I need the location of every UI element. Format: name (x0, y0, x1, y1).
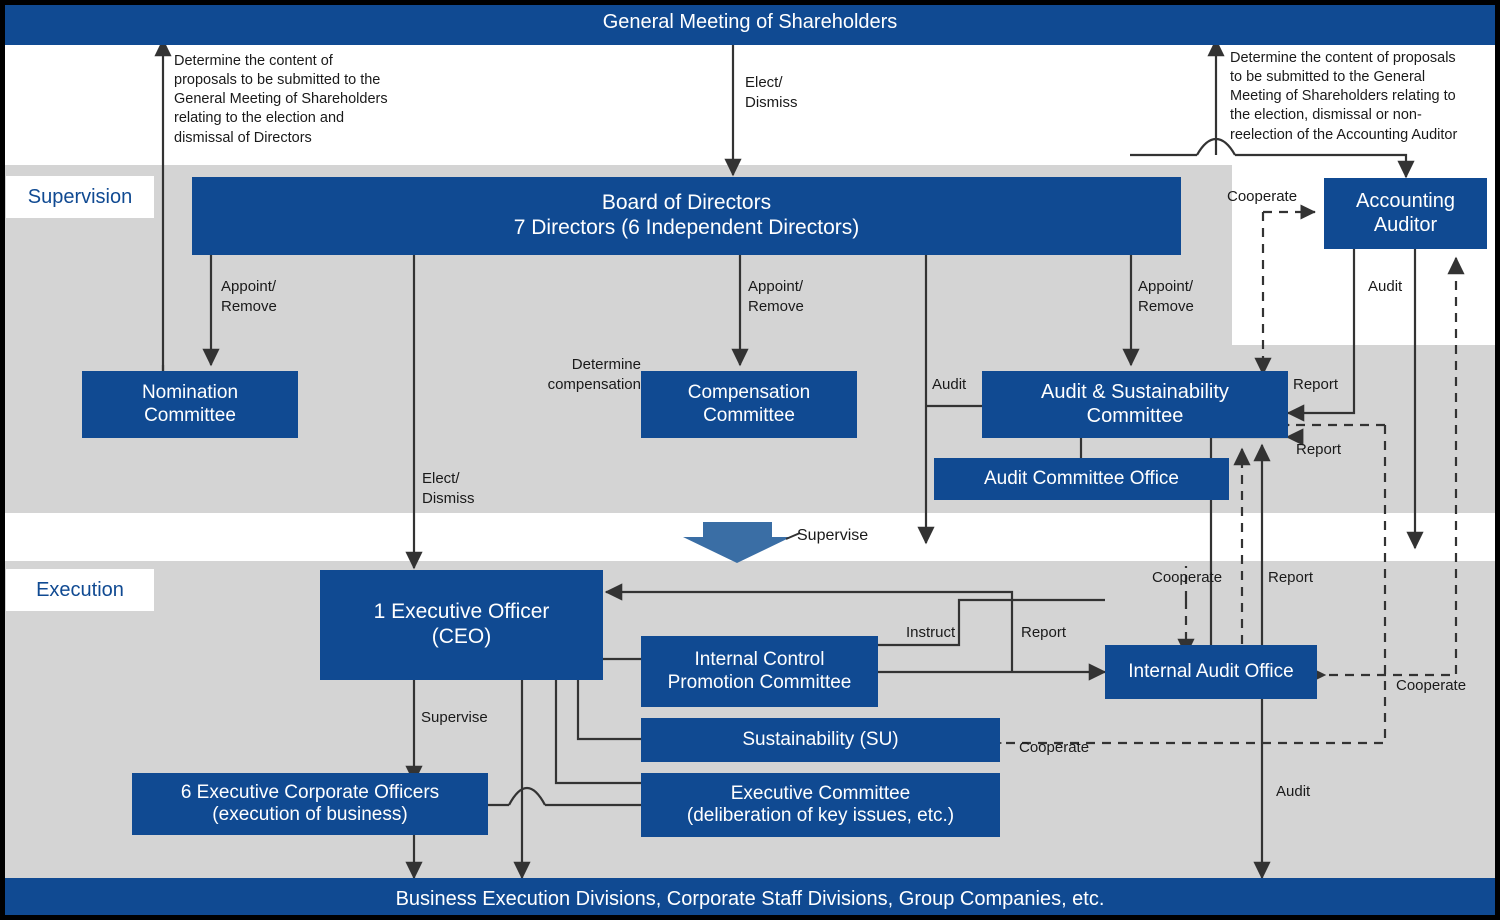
banner-general-meeting-label: General Meeting of Shareholders (603, 11, 898, 34)
box-ceo-label: 1 Executive Officer (CEO) (374, 600, 550, 650)
box-audit-sustainability-committee-label: Audit & Sustainability Committee (1041, 381, 1229, 428)
box-audit-sustainability-committee: Audit & Sustainability Committee (982, 371, 1288, 438)
box-sustainability-su: Sustainability (SU) (641, 718, 1000, 762)
box-audit-committee-office: Audit Committee Office (934, 458, 1229, 500)
box-executive-corporate-officers-label: 6 Executive Corporate Officers (executio… (181, 782, 439, 827)
box-internal-control-promotion-committee-label: Internal Control Promotion Committee (668, 649, 852, 694)
label-appoint-remove-audit: Appoint/ Remove (1138, 277, 1194, 317)
tag-supervision-label: Supervision (28, 186, 133, 209)
label-supervise-band: Supervise (797, 525, 868, 546)
label-audit-board: Audit (932, 375, 966, 395)
governance-diagram: General Meeting of Shareholders Business… (0, 0, 1500, 920)
label-appoint-remove-compensation: Appoint/ Remove (748, 277, 804, 317)
box-accounting-auditor-label: Accounting Auditor (1356, 190, 1455, 237)
box-internal-audit-office-label: Internal Audit Office (1128, 661, 1293, 683)
box-nomination-committee-label: Nomination Committee (142, 382, 238, 427)
box-compensation-committee-label: Compensation Committee (688, 382, 811, 427)
tag-supervision: Supervision (6, 176, 154, 218)
label-determine-proposals-auditor: Determine the content of proposals to be… (1230, 49, 1492, 145)
label-appoint-remove-nomination: Appoint/ Remove (221, 277, 277, 317)
label-elect-dismiss-top: Elect/ Dismiss (745, 73, 798, 113)
label-report-asc-bottom: Report (1296, 440, 1341, 460)
banner-business-execution: Business Execution Divisions, Corporate … (0, 878, 1500, 920)
label-elect-dismiss-ceo: Elect/ Dismiss (422, 469, 475, 509)
label-determine-proposals-directors: Determine the content of proposals to be… (174, 52, 444, 148)
banner-general-meeting: General Meeting of Shareholders (0, 0, 1500, 45)
label-cooperate-internal-audit-top: Cooperate (1152, 568, 1222, 588)
label-audit-bottom: Audit (1276, 782, 1310, 802)
label-instruct: Instruct (906, 623, 955, 643)
box-internal-control-promotion-committee: Internal Control Promotion Committee (641, 636, 878, 707)
tag-execution: Execution (6, 569, 154, 611)
banner-business-execution-label: Business Execution Divisions, Corporate … (396, 888, 1105, 911)
label-supervise-ceo: Supervise (421, 708, 488, 728)
box-executive-committee-label: Executive Committee (deliberation of key… (687, 783, 954, 828)
label-cooperate-accounting: Cooperate (1227, 187, 1297, 207)
box-ceo: 1 Executive Officer (CEO) (320, 570, 603, 680)
box-board-of-directors-label: Board of Directors 7 Directors (6 Indepe… (514, 191, 860, 241)
label-cooperate-internal-audit-right: Cooperate (1396, 676, 1466, 696)
label-determine-compensation: Determine compensation (523, 355, 641, 395)
label-audit-accounting: Audit (1368, 277, 1402, 297)
label-report-internal-audit: Report (1021, 623, 1066, 643)
box-audit-committee-office-label: Audit Committee Office (984, 468, 1179, 490)
box-executive-corporate-officers: 6 Executive Corporate Officers (executio… (132, 773, 488, 835)
label-cooperate-sustainability: Cooperate (1019, 738, 1089, 758)
label-report-asc-top: Report (1293, 375, 1338, 395)
box-board-of-directors: Board of Directors 7 Directors (6 Indepe… (192, 177, 1181, 255)
label-report-internal-audit-top: Report (1268, 568, 1313, 588)
tag-execution-label: Execution (36, 579, 124, 602)
box-accounting-auditor: Accounting Auditor (1324, 178, 1487, 249)
box-compensation-committee: Compensation Committee (641, 371, 857, 438)
box-sustainability-su-label: Sustainability (SU) (742, 729, 898, 751)
box-nomination-committee: Nomination Committee (82, 371, 298, 438)
box-internal-audit-office: Internal Audit Office (1105, 645, 1317, 699)
box-executive-committee: Executive Committee (deliberation of key… (641, 773, 1000, 837)
